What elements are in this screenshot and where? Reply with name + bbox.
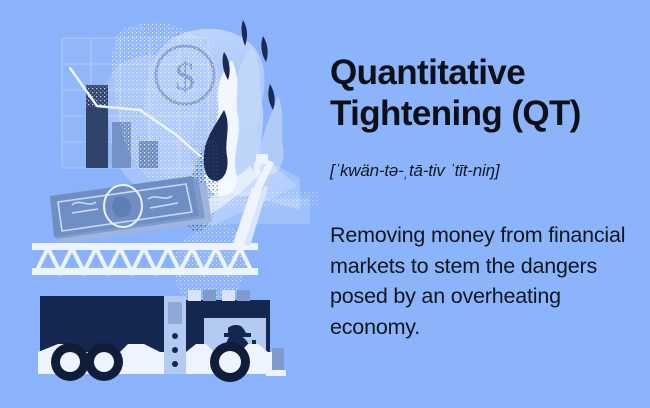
definition-card: $ bbox=[0, 0, 650, 408]
pronunciation-text: [ˈkwän-tə-ˌtā-tiv ˈtīt-niŋ] bbox=[330, 160, 638, 182]
fire-truck-illustration: $ bbox=[0, 0, 320, 408]
page-title: Quantitative Tightening (QT) bbox=[330, 52, 638, 134]
definition-text: Removing money from financial markets to… bbox=[330, 220, 636, 342]
definition-text-column: Quantitative Tightening (QT) [ˈkwän-tə-ˌ… bbox=[330, 0, 640, 408]
